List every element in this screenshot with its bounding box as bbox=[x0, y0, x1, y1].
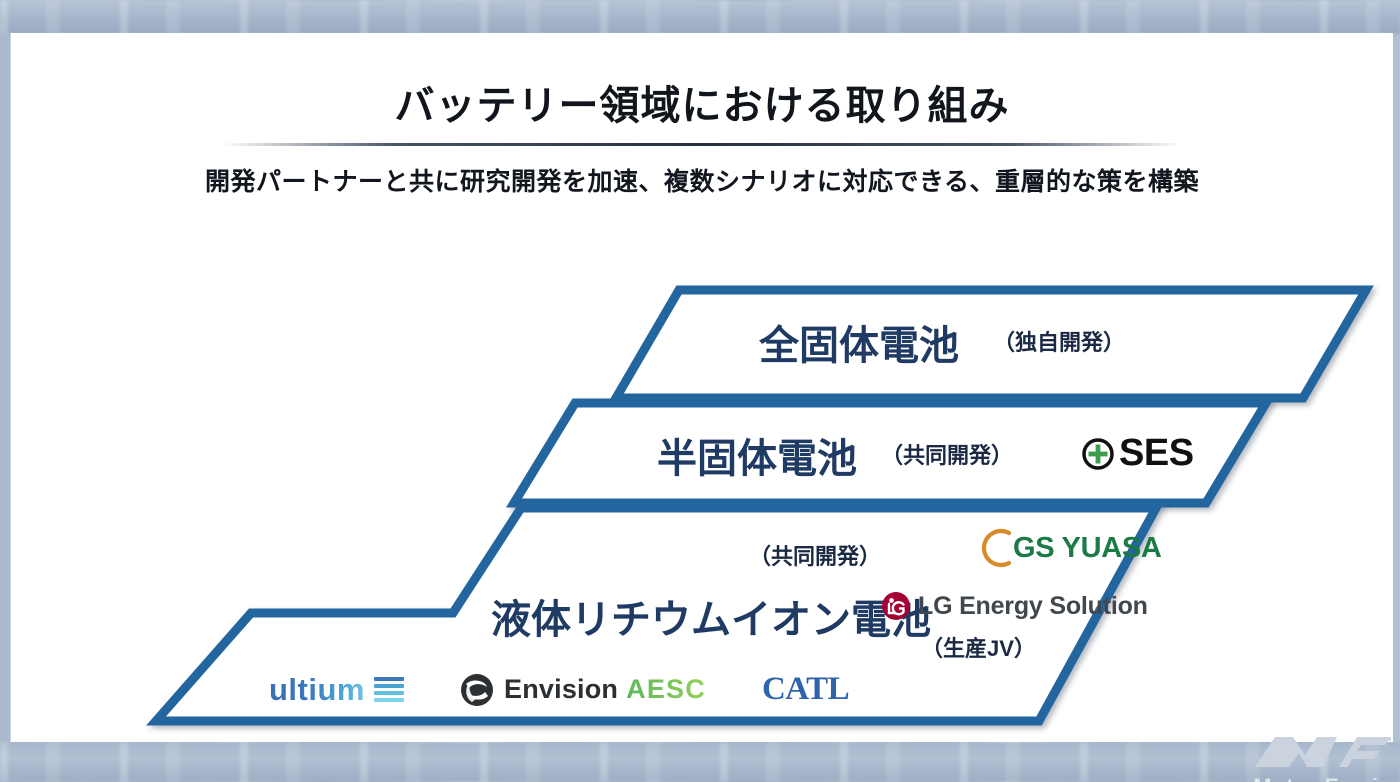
mf-logo-icon bbox=[1253, 733, 1393, 773]
band-label-semi-solid-state: 半固体電池 bbox=[657, 426, 857, 484]
title-divider bbox=[222, 143, 1182, 146]
letterbox-bottom bbox=[0, 742, 1400, 782]
band-note-liquid-joint-dev: （共同開発） bbox=[749, 539, 881, 571]
logo-lg-energy-solution: LG Energy Solution bbox=[881, 591, 1148, 621]
band-liquid-lithium-ion[interactable]: （共同開発） 液体リチウムイオン電池 （生産JV） GS YUASA bbox=[151, 503, 1161, 728]
logo-gs-yuasa-text: GS YUASA bbox=[1013, 532, 1162, 565]
lg-face-icon bbox=[881, 591, 911, 621]
band-note-semi-solid-state: （共同開発） bbox=[881, 438, 1013, 470]
logo-aesc-text: AESC bbox=[626, 674, 706, 705]
slide-stage: バッテリー領域における取り組み 開発パートナーと共に研究開発を加速、複数シナリオ… bbox=[0, 0, 1400, 782]
logo-ultium: ultium bbox=[269, 672, 404, 708]
logo-gs-yuasa: GS YUASA bbox=[979, 525, 1162, 571]
logo-catl: CATL bbox=[762, 671, 849, 708]
band-note-production-jv: （生産JV） bbox=[921, 631, 1036, 663]
page-title: バッテリー領域における取り組み bbox=[11, 33, 1393, 129]
band-semi-solid-state[interactable]: 半固体電池 （共同開発） SES bbox=[509, 398, 1271, 508]
letterbox-top bbox=[0, 0, 1400, 34]
band-shape-1 bbox=[611, 285, 1371, 403]
logo-ses-text: SES bbox=[1119, 432, 1194, 475]
arc-icon bbox=[979, 525, 1013, 571]
page-subtitle: 開発パートナーと共に研究開発を加速、複数シナリオに対応できる、重層的な策を構築 bbox=[11, 162, 1393, 198]
partner-logo-row: ultium Envision AESC bbox=[269, 671, 849, 708]
logo-ses: SES bbox=[1081, 432, 1194, 475]
band-all-solid-state[interactable]: 全固体電池 （独自開発） bbox=[611, 285, 1371, 403]
band-label-liquid-lithium-ion: 液体リチウムイオン電池 bbox=[491, 587, 931, 645]
swirl-icon bbox=[460, 673, 494, 707]
logo-ultium-text: ultium bbox=[269, 672, 365, 708]
logo-envision-aesc: Envision AESC bbox=[460, 673, 706, 707]
slide-canvas: バッテリー領域における取り組み 開発パートナーと共に研究開発を加速、複数シナリオ… bbox=[10, 33, 1393, 742]
logo-catl-text: CATL bbox=[762, 671, 849, 708]
logo-lg-text: LG Energy Solution bbox=[918, 592, 1148, 621]
title-block: バッテリー領域における取り組み 開発パートナーと共に研究開発を加速、複数シナリオ… bbox=[11, 33, 1393, 198]
bars-icon bbox=[374, 677, 404, 702]
circle-plus-icon bbox=[1081, 437, 1115, 471]
band-label-all-solid-state: 全固体電池 bbox=[759, 313, 959, 371]
watermark-text: Motor-Fan.jp bbox=[1243, 774, 1400, 782]
logo-envision-text: Envision bbox=[504, 674, 618, 705]
band-note-all-solid-state: （独自開発） bbox=[993, 325, 1125, 357]
watermark: Motor-Fan.jp bbox=[1243, 733, 1400, 782]
